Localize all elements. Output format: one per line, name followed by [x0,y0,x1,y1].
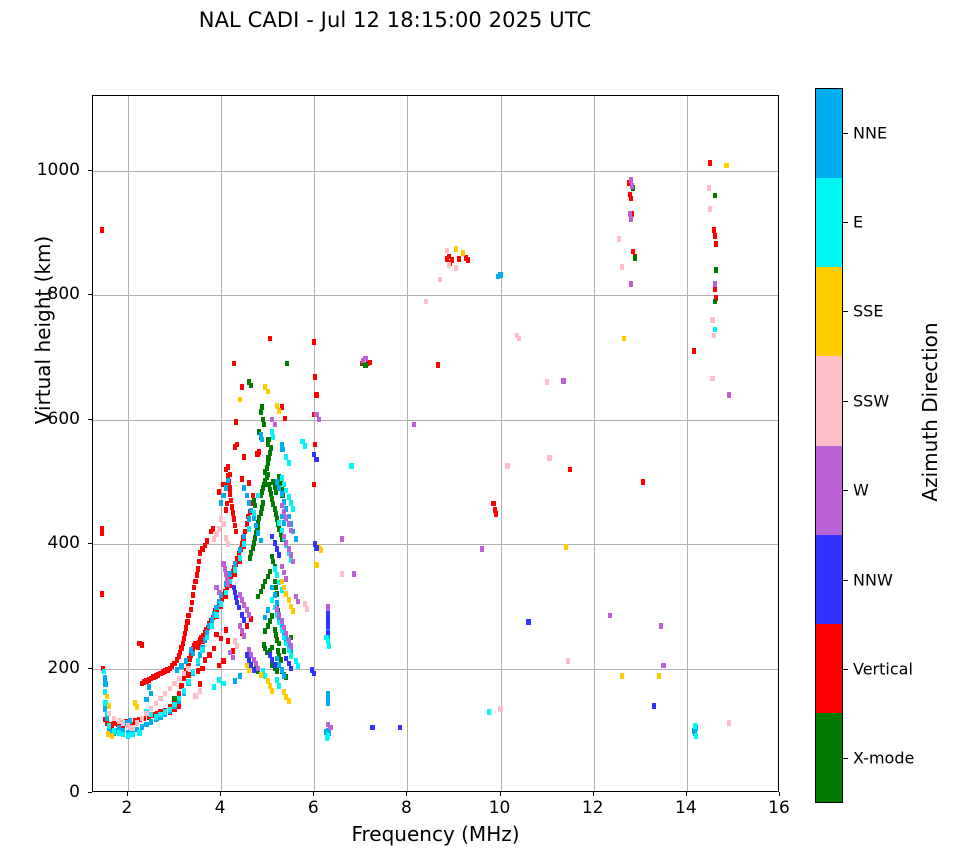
data-point-sse [270,688,274,694]
gridline-vertical [221,96,222,791]
data-point-nne [270,585,274,591]
data-point-sse [277,408,281,414]
colorbar-label: Azimuth Direction [918,282,942,542]
data-point-vertical [641,479,645,485]
data-point-sse [287,597,291,603]
colorbar-label-ssw: SSW [853,391,889,410]
colorbar[interactable] [815,88,843,803]
data-point-nne [242,534,246,540]
data-point-vertical [714,241,718,247]
data-point-ssw [224,535,228,541]
data-point-x-mode [266,437,270,443]
data-point-nnw [232,585,236,591]
colorbar-tick [843,490,848,491]
data-point-nne [214,605,218,611]
data-point-w [727,392,731,398]
data-point-vertical [226,638,230,644]
data-point-ssw [226,541,230,547]
data-point-w [284,540,288,546]
data-point-e [130,732,134,738]
data-point-nnw [289,666,293,672]
data-point-vertical [198,550,202,556]
y-tick [88,668,92,669]
data-point-x-mode [282,648,286,654]
data-point-vertical [217,663,221,669]
data-point-nne [228,571,232,577]
data-point-e [289,500,293,506]
colorbar-segment-vertical[interactable] [816,624,842,713]
data-point-ssw [424,299,428,305]
data-point-ssw [498,706,502,712]
data-point-nne [280,514,284,520]
x-tick-label: 4 [215,798,226,818]
data-point-nne [259,538,263,544]
data-point-vertical [214,632,218,638]
data-point-e [349,463,353,469]
data-point-e [126,733,130,739]
data-point-nnw [275,546,279,552]
data-point-ssw [620,264,624,270]
data-point-sse [622,336,626,342]
plot-canvas [93,96,778,791]
data-point-nne [140,724,144,730]
data-point-nnw [398,725,402,731]
data-point-vertical [312,482,316,488]
x-tick-label: 8 [401,798,412,818]
data-point-e [284,454,288,460]
data-point-vertical [193,579,197,585]
data-point-x-mode [633,255,637,261]
data-point-x-mode [266,442,270,448]
data-point-nne [263,615,267,621]
data-point-nnw [652,703,656,709]
data-point-nnw [273,662,277,668]
data-point-w [231,655,235,661]
data-point-w [340,536,344,542]
data-point-nne [245,493,249,499]
data-point-e [694,733,698,739]
data-point-vertical [240,384,244,390]
data-point-nne [238,547,242,553]
data-point-vertical [190,600,194,606]
colorbar-tick [843,669,848,670]
data-point-e [277,683,281,689]
data-point-w [296,599,300,605]
data-point-w [217,590,221,596]
data-point-nne [280,491,284,497]
data-point-nnw [242,617,246,623]
data-point-e [303,443,307,449]
data-point-w [273,422,277,428]
data-point-ssw [235,643,239,649]
data-point-e [242,541,246,547]
data-point-ssw [121,720,125,726]
gridline-horizontal [93,295,778,296]
data-point-nne [280,667,284,673]
data-point-e [277,520,281,526]
data-point-vertical [466,257,470,263]
data-point-nne [184,658,188,664]
data-point-e [327,643,331,649]
data-point-e [158,712,162,718]
data-point-e [137,730,141,736]
data-point-e [296,663,300,669]
data-point-vertical [313,374,317,380]
data-point-ssw [454,265,458,271]
data-point-ssw [305,606,309,612]
data-point-e [196,658,200,664]
colorbar-tick [843,758,848,759]
data-point-nne [256,530,260,536]
data-point-e [221,681,225,687]
data-point-nne [144,697,148,703]
data-point-e [289,653,293,659]
data-point-x-mode [277,641,281,647]
data-point-vertical [198,681,202,687]
data-point-nne [254,523,258,529]
colorbar-label-vertical: Vertical [853,659,913,678]
colorbar-segment-e[interactable] [816,178,842,267]
data-point-vertical [100,530,104,536]
gridline-horizontal [93,544,778,545]
data-point-vertical [242,454,246,460]
y-tick-label: 1000 [0,160,80,180]
data-point-sse [238,397,242,403]
data-point-nne [149,719,153,725]
data-point-vertical [234,529,238,535]
data-point-e [270,597,274,603]
data-point-e [282,482,286,488]
data-point-w [223,566,227,572]
data-point-x-mode [248,555,252,561]
data-point-vertical [227,485,231,491]
data-point-ssw [158,696,162,702]
data-point-vertical [629,196,633,202]
data-point-ssw [340,571,344,577]
data-point-e [280,528,284,534]
gridline-vertical [407,96,408,791]
data-point-w [661,663,665,669]
data-point-w [608,613,612,619]
data-point-x-mode [269,445,273,451]
data-point-ssw [198,688,202,694]
colorbar-label-w: W [853,481,869,500]
data-point-w [277,612,281,618]
data-point-vertical [200,666,204,672]
data-point-e [205,635,209,641]
data-point-w [282,509,286,515]
x-axis-label: Frequency (MHz) [92,822,779,846]
data-point-nne [238,673,242,679]
data-point-e [284,488,288,494]
data-point-vertical [568,467,572,473]
data-point-vertical [245,623,249,629]
data-point-e [117,730,121,736]
x-tick [593,792,594,796]
data-point-vertical [224,627,228,633]
colorbar-segment-nne[interactable] [816,89,842,178]
data-point-sse [454,246,458,252]
data-point-e [224,590,228,596]
data-point-nne [179,663,183,669]
data-point-w [284,631,288,637]
y-tick [88,170,92,171]
data-point-nne [326,700,330,706]
data-point-nne [105,716,109,722]
data-point-vertical [195,572,199,578]
data-point-sse [282,585,286,591]
y-tick [88,792,92,793]
data-point-vertical [217,489,221,495]
data-point-w [561,378,565,384]
data-point-sse [266,389,270,395]
data-point-ssw [112,716,116,722]
data-point-nnw [314,545,318,551]
data-point-vertical [436,362,440,368]
data-point-w [317,417,321,423]
data-point-nnw [252,667,256,673]
data-point-nne [242,485,246,491]
data-point-nnw [270,534,274,540]
data-point-w [629,216,633,222]
data-point-vertical [196,566,200,572]
data-point-ssw [186,666,190,672]
colorbar-segment-w[interactable] [816,446,842,535]
data-point-vertical [177,703,181,709]
data-point-nne [149,691,153,697]
data-point-sse [135,704,139,710]
data-point-e [275,572,279,578]
data-point-nne [147,684,151,690]
data-point-w [275,606,279,612]
data-point-sse [461,250,465,256]
data-point-vertical [100,591,104,597]
data-point-w [289,552,293,558]
data-point-vertical [257,449,261,455]
data-point-ssw [517,336,521,342]
data-point-vertical [186,613,190,619]
data-point-nne [252,515,256,521]
y-tick-label: 800 [0,284,80,304]
x-tick-label: 16 [768,798,790,818]
data-point-ssw [140,716,144,722]
data-point-sse [284,591,288,597]
data-point-vertical [191,592,195,598]
data-point-vertical [268,336,272,342]
data-point-nne [247,500,251,506]
data-point-nne [247,516,251,522]
data-point-vertical [192,585,196,591]
y-tick-label: 600 [0,409,80,429]
data-point-w [630,183,634,189]
data-point-nne [260,437,264,443]
ionogram-plot [92,95,779,792]
data-point-w [284,576,288,582]
data-point-vertical [692,348,696,354]
data-point-x-mode [268,450,272,456]
data-point-sse [724,163,728,169]
data-point-nne [233,678,237,684]
data-point-ssw [447,262,451,268]
colorbar-label-nne: NNE [853,123,887,142]
y-tick-label: 400 [0,533,80,553]
data-point-w [280,503,284,509]
data-point-vertical [232,516,236,522]
data-point-nnw [277,552,281,558]
data-point-sse [247,667,251,673]
data-point-e [238,555,242,561]
data-point-vertical [368,360,372,366]
colorbar-tick [843,133,848,134]
data-point-e [256,493,260,499]
data-point-sse [259,672,263,678]
data-point-x-mode [249,383,253,389]
data-point-e [107,723,111,729]
data-point-e [149,712,153,718]
x-tick [500,792,501,796]
data-point-nnw [237,605,241,611]
data-point-vertical [491,501,495,507]
data-point-ssw [163,691,167,697]
data-point-x-mode [172,696,176,702]
data-point-vertical [230,504,234,510]
data-point-x-mode [262,422,266,428]
colorbar-segment-x-mode[interactable] [816,713,842,802]
colorbar-segment-ssw[interactable] [816,356,842,445]
data-point-nnw [526,619,530,625]
colorbar-tick [843,222,848,223]
data-point-w [328,725,332,731]
data-point-e [154,714,158,720]
data-point-nne [144,722,148,728]
data-point-ssw [135,720,139,726]
data-point-nne [103,681,107,687]
colorbar-tick [843,401,848,402]
data-point-ssw [566,658,570,664]
data-point-nne [224,485,228,491]
data-point-vertical [189,607,193,613]
data-point-w [221,561,225,567]
colorbar-tick [843,580,848,581]
data-point-w [629,281,633,287]
data-point-nne [294,536,298,542]
data-point-e [217,677,221,683]
data-point-vertical [140,642,144,648]
data-point-e [210,623,214,629]
data-point-w [242,633,246,639]
x-tick [686,792,687,796]
data-point-ssw [144,711,148,717]
colorbar-label-x-mode: X-mode [853,749,914,768]
data-point-nne [103,675,107,681]
gridline-vertical [128,96,129,791]
data-point-ssw [168,686,172,692]
data-point-ssw [710,376,714,382]
data-point-sse [280,579,284,585]
data-point-e [271,434,275,440]
data-point-e [713,327,717,333]
data-point-w [289,643,293,649]
data-point-w [713,281,717,287]
data-point-w [659,623,663,629]
data-point-w [287,546,291,552]
data-point-nne [266,607,270,613]
data-point-vertical [196,668,200,674]
data-point-x-mode [275,668,279,674]
data-point-vertical [240,476,244,482]
colorbar-segment-sse[interactable] [816,267,842,356]
data-point-e [275,677,279,683]
data-point-w [287,521,291,527]
data-point-ssw [149,706,153,712]
data-point-ssw [445,248,449,254]
data-point-e [121,732,125,738]
data-point-vertical [283,416,287,422]
data-point-w [256,666,260,672]
x-tick [127,792,128,796]
data-point-e [325,735,329,741]
data-point-vertical [313,442,317,448]
data-point-w [287,637,291,643]
data-point-e [200,647,204,653]
data-point-sse [620,673,624,679]
colorbar-label-sse: SSE [853,302,883,321]
gridline-vertical [594,96,595,791]
data-point-ssw [172,681,176,687]
data-point-vertical [224,507,228,513]
data-point-nne [191,651,195,657]
data-point-x-mode [260,404,264,410]
data-point-vertical [196,645,200,651]
data-point-nne [282,520,286,526]
data-point-ssw [710,317,714,323]
data-point-vertical [221,658,225,664]
x-tick-label: 14 [675,798,697,818]
data-point-w [247,612,251,618]
data-point-nne [277,485,281,491]
data-point-nnw [326,611,330,617]
y-tick-label: 0 [0,782,80,802]
data-point-vertical [100,227,104,233]
data-point-w [226,581,230,587]
data-point-ssw [438,277,442,283]
data-point-vertical [140,681,144,687]
data-point-e [182,688,186,694]
data-point-e [291,506,295,512]
data-point-vertical [235,442,239,448]
data-point-vertical [457,256,461,262]
data-point-x-mode [259,409,263,415]
data-point-x-mode [714,267,718,273]
data-point-sse [291,608,295,614]
data-point-sse [287,698,291,704]
x-tick-label: 2 [122,798,133,818]
colorbar-segment-nnw[interactable] [816,535,842,624]
data-point-x-mode [266,455,270,461]
x-tick [779,792,780,796]
data-point-nne [280,447,284,453]
data-point-nne [175,667,179,673]
data-point-e [163,709,167,715]
data-point-vertical [185,619,189,625]
data-point-e [191,669,195,675]
data-point-ssw [617,236,621,242]
data-point-nnw [326,630,330,636]
x-tick-label: 12 [582,798,604,818]
data-point-w [629,177,633,183]
data-point-vertical [314,392,318,398]
data-point-e [168,707,172,713]
